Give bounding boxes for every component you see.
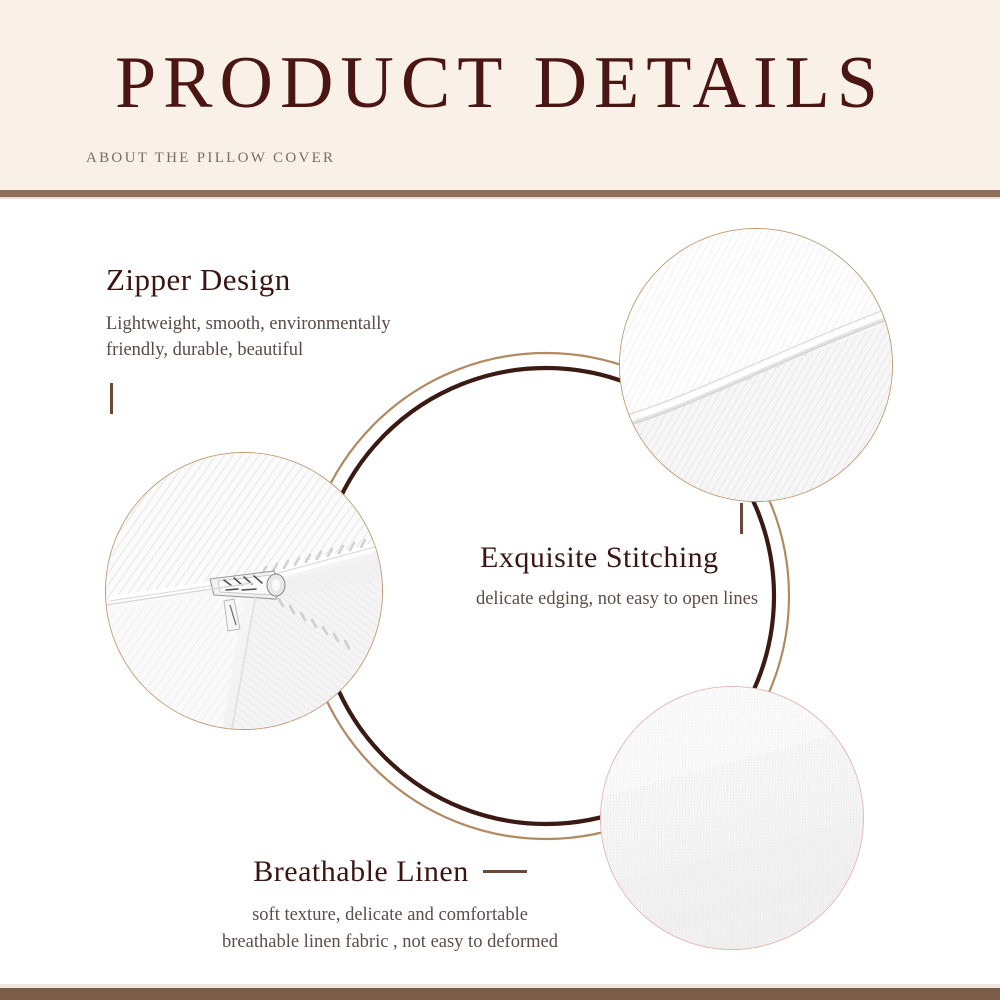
feature-desc-zipper: Lightweight, smooth, environmentally fri… — [106, 311, 391, 365]
zipper-photo-artwork — [106, 453, 382, 729]
feature-title-linen: Breathable Linen — [160, 855, 620, 890]
feature-title-stitching: Exquisite Stitching — [480, 541, 817, 576]
feature-title-zipper: Zipper Design — [106, 262, 391, 298]
stitching-closeup-photo — [619, 228, 893, 502]
feature-desc-zipper-line1: Lightweight, smooth, environmentally — [106, 314, 391, 334]
feature-desc-stitching: delicate edging, not easy to open lines — [417, 586, 817, 613]
feature-block-linen: Breathable Linen soft texture, delicate … — [160, 855, 620, 957]
feature-block-zipper: Zipper Design Lightweight, smooth, envir… — [106, 262, 391, 364]
feature-desc-linen-line2: breathable linen fabric , not easy to de… — [222, 932, 558, 952]
feature-title-linen-text: Breathable Linen — [253, 855, 468, 888]
connector-dash-icon — [483, 870, 527, 873]
product-details-infographic: PRODUCT DETAILS ABOUT THE PILLOW COVER — [0, 0, 1000, 1000]
stitching-photo-artwork — [620, 229, 892, 501]
accent-tick-stitching — [740, 503, 743, 534]
footer-bar — [0, 988, 1000, 1000]
linen-fabric-closeup-photo — [600, 686, 864, 950]
feature-block-stitching: Exquisite Stitching delicate edging, not… — [480, 541, 817, 612]
feature-desc-linen: soft texture, delicate and comfortable b… — [160, 902, 620, 958]
accent-tick-zipper — [110, 383, 113, 414]
zipper-closeup-photo — [105, 452, 383, 730]
linen-photo-artwork — [601, 687, 863, 949]
feature-desc-linen-line1: soft texture, delicate and comfortable — [252, 905, 528, 925]
feature-desc-zipper-line2: friendly, durable, beautiful — [106, 340, 303, 360]
